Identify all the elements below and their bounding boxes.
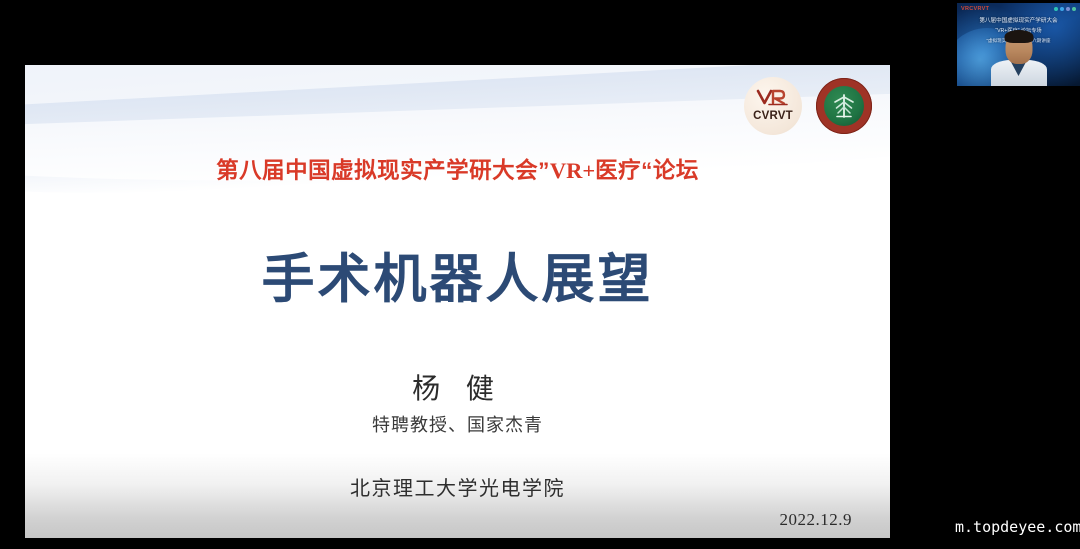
slide-date: 2022.12.9: [780, 510, 853, 530]
university-emblem-logo: [816, 78, 872, 134]
speaker-name: 杨 健: [25, 367, 890, 407]
webcam-picture-in-picture[interactable]: VRCVRVT 第八届中国虚拟现实产学研大会 “VR+医疗” 论坛专场 “虚拟现…: [957, 3, 1080, 86]
forum-title-vr: VR+: [550, 158, 595, 183]
video-player-stage: CVRVT 第八届中国虚拟现实产学研大会”VR+医疗“论坛 手术机器人展望 杨: [0, 0, 1080, 549]
cvrvt-logo-text: CVRVT: [753, 111, 793, 123]
webcam-speaker-figure: [989, 32, 1049, 86]
webcam-speaker-hair: [1004, 30, 1033, 43]
slide-main-title: 手术机器人展望: [25, 237, 890, 313]
presentation-slide: CVRVT 第八届中国虚拟现实产学研大会”VR+医疗“论坛 手术机器人展望 杨: [25, 65, 890, 538]
cvrvt-mark-icon: [756, 89, 790, 110]
speaker-title: 特聘教授、国家杰青: [25, 411, 890, 437]
university-emblem-inner: [824, 86, 864, 126]
forum-title: 第八届中国虚拟现实产学研大会”VR+医疗“论坛: [25, 153, 890, 185]
slide-logo-row: CVRVT: [744, 77, 872, 135]
site-watermark: m.topdeyee.com: [955, 518, 1080, 536]
webcam-overlay-line-1: 第八届中国虚拟现实产学研大会: [957, 16, 1080, 24]
speaker-affiliation: 北京理工大学光电学院: [25, 472, 890, 501]
webcam-brand-text: VRCVRVT: [961, 6, 989, 12]
cvrvt-logo: CVRVT: [744, 77, 802, 135]
university-tree-icon: [830, 92, 858, 120]
forum-title-part1: 第八届中国虚拟现实产学研大会”: [216, 158, 550, 183]
forum-title-part2: 医疗“论坛: [595, 158, 699, 183]
webcam-dot-indicators: [1054, 7, 1076, 11]
